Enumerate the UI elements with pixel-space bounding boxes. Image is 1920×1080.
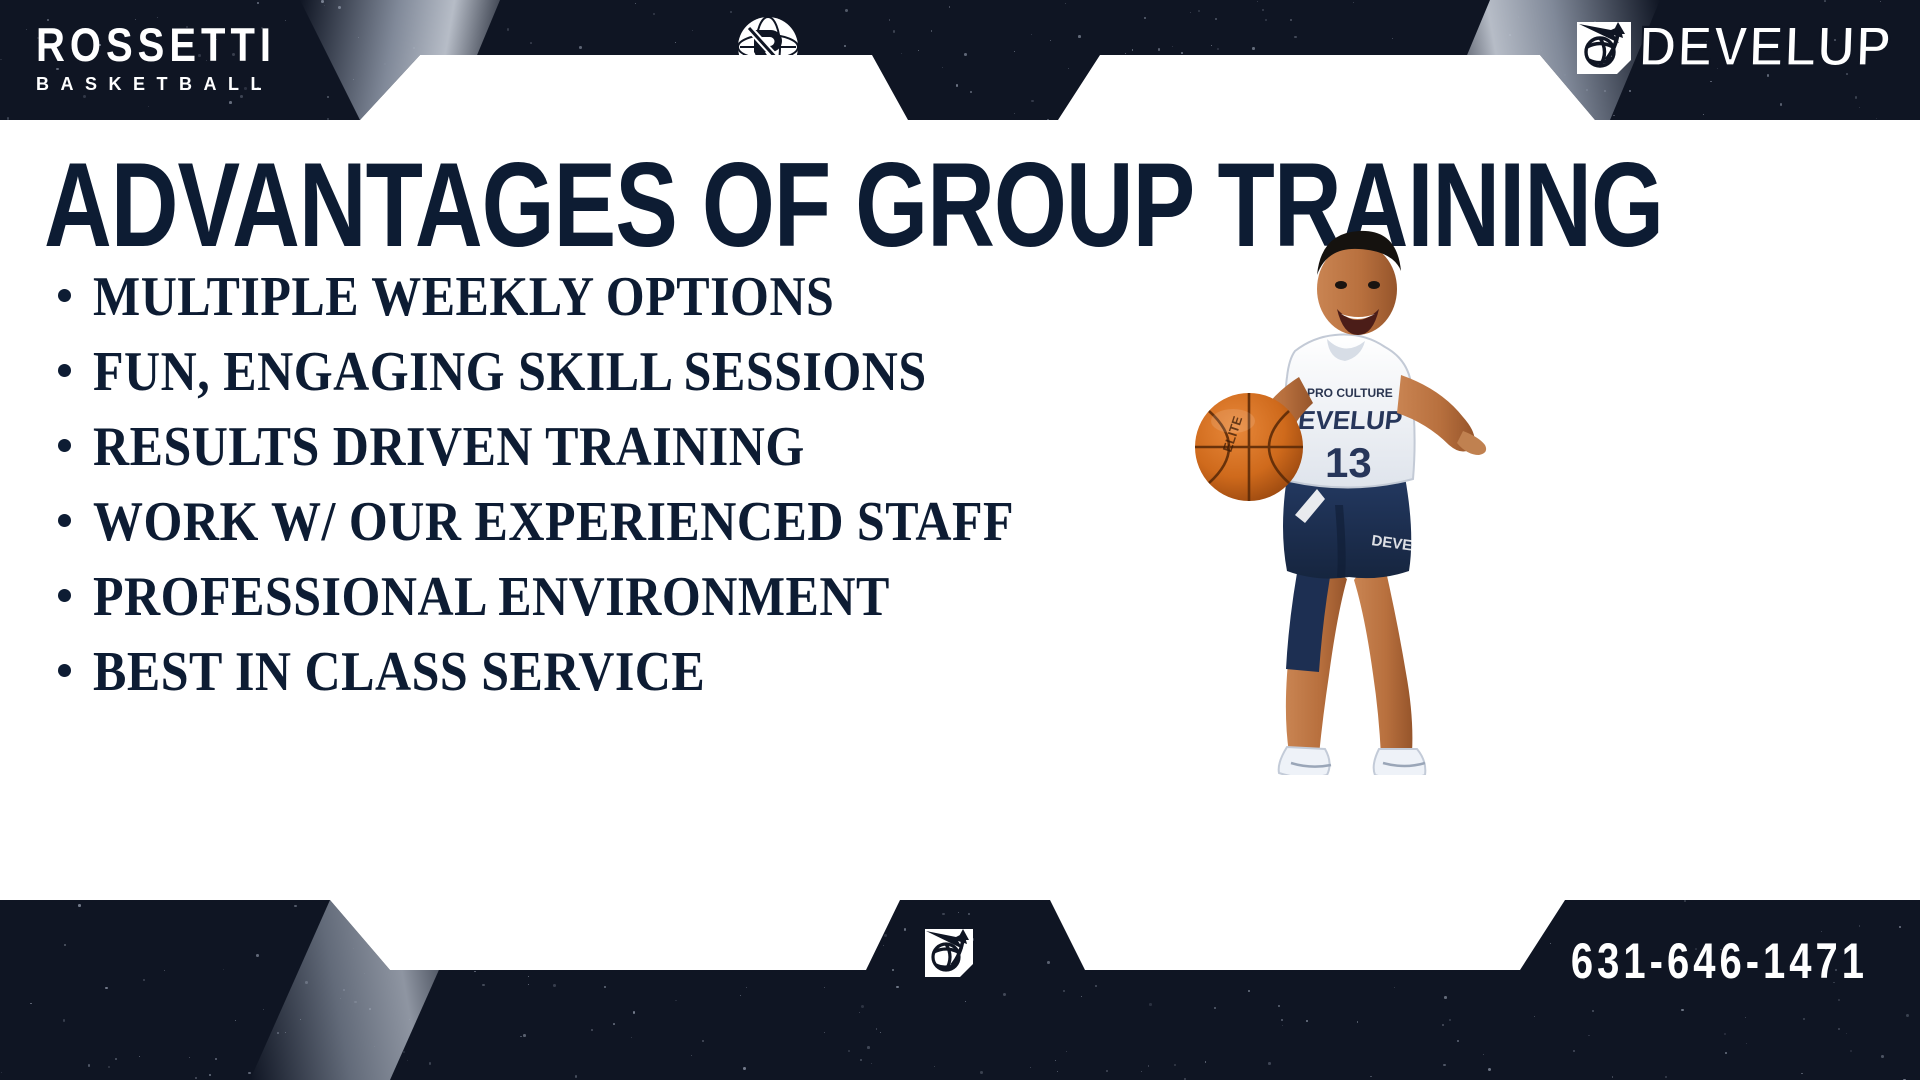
list-item: BEST IN CLASS SERVICE [58,633,1014,708]
list-item-label: BEST IN CLASS SERVICE [93,638,705,703]
bullet-dot-icon [58,514,71,527]
rossetti-r-basketball-monogram-icon[interactable] [735,14,801,80]
list-item-label: FUN, ENGAGING SKILL SESSIONS [93,338,927,403]
list-item-label: PROFESSIONAL ENVIRONMENT [93,563,890,628]
list-item: WORK W/ OUR EXPERIENCED STAFF [58,483,1014,558]
bullet-dot-icon [58,664,71,677]
svg-text:13: 13 [1325,439,1372,486]
list-item: PROFESSIONAL ENVIRONMENT [58,558,1014,633]
bullet-dot-icon [58,364,71,377]
phone-number[interactable]: 631-646-1471 [1571,934,1868,990]
develup-wordmark: DEVELUP [1638,19,1892,75]
header-bar: ROSSETTI BASKETBALL [0,0,1920,120]
list-item-label: RESULTS DRIVEN TRAINING [93,413,805,478]
develup-basketball-arrow-icon[interactable] [921,924,977,980]
develup-logo[interactable]: DEVELUP [1573,16,1892,78]
list-item-label: WORK W/ OUR EXPERIENCED STAFF [93,488,1014,553]
list-item-label: MULTIPLE WEEKLY OPTIONS [93,263,834,328]
promo-poster: ROSSETTI BASKETBALL [0,0,1920,1080]
develup-basketball-arrow-icon [1573,16,1635,78]
rossetti-wordmark: ROSSETTI [36,22,276,69]
bullet-dot-icon [58,589,71,602]
svg-text:PRO CULTURE: PRO CULTURE [1307,386,1393,400]
bullet-dot-icon [58,439,71,452]
rossetti-subtitle: BASKETBALL [36,75,276,93]
youth-basketball-player-photo: DEVELUP PRO CULTURE DEVELUP 13 [1175,215,1535,775]
list-item: RESULTS DRIVEN TRAINING [58,408,1014,483]
list-item: FUN, ENGAGING SKILL SESSIONS [58,333,1014,408]
footer-bar: 631-646-1471 [0,900,1920,1080]
rossetti-logo[interactable]: ROSSETTI BASKETBALL [36,22,276,93]
bullet-dot-icon [58,289,71,302]
benefits-list: MULTIPLE WEEKLY OPTIONS FUN, ENGAGING SK… [58,258,1014,708]
list-item: MULTIPLE WEEKLY OPTIONS [58,258,1014,333]
